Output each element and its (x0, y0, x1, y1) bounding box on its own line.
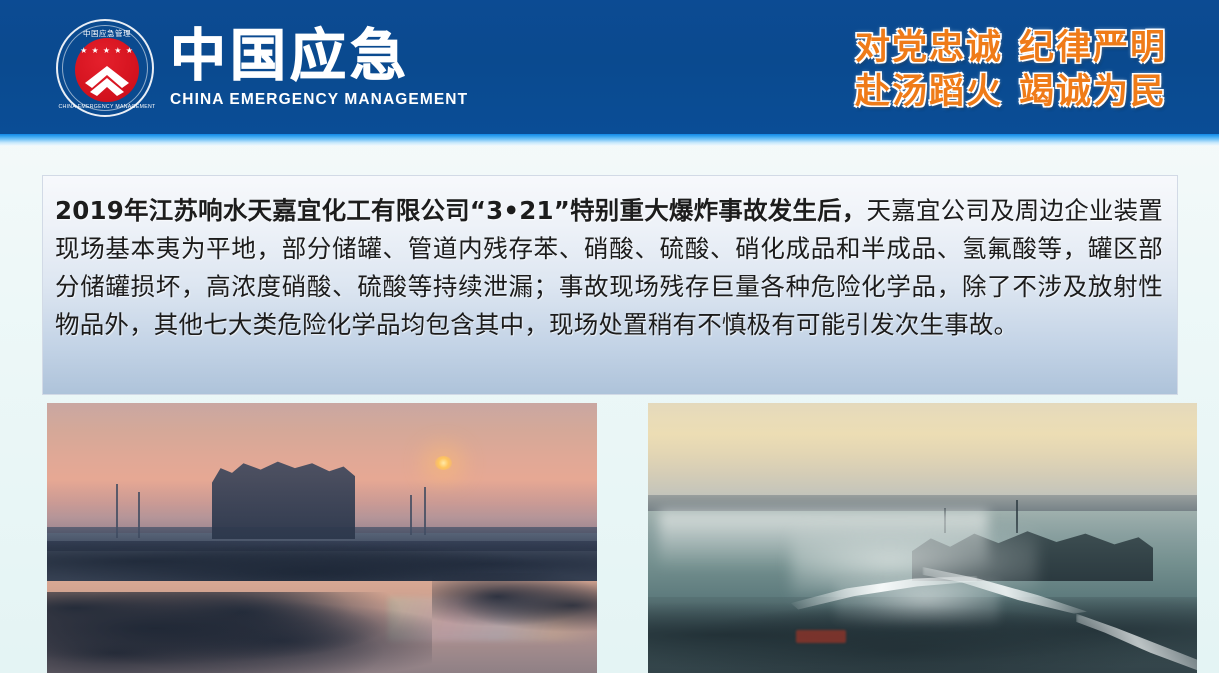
slogan-line-1-part-b: 纪律严明 (1019, 28, 1167, 68)
debris-field-lower (47, 592, 432, 673)
wordmark-english: CHINA EMERGENCY MANAGEMENT (170, 91, 468, 109)
slogan-line-2-part-a: 赴汤蹈火 (855, 72, 1003, 112)
emblem-red-disc: ★ ★ ★ ★ ★ (75, 38, 139, 102)
sun-disc (435, 456, 452, 470)
body-paragraph-lead: 2019年江苏响水天嘉宜化工有限公司“3•21”特别重大爆炸事故发生后， (55, 196, 867, 225)
photo-firefighting-water-jets (648, 403, 1197, 673)
body-paragraph: 2019年江苏响水天嘉宜化工有限公司“3•21”特别重大爆炸事故发生后，天嘉宜公… (55, 192, 1163, 344)
wordmark-chinese: 中国应急 (170, 27, 468, 87)
slogan-line-1: 对党忠诚纪律严明 (855, 26, 1167, 70)
brand-wordmark: 中国应急 CHINA EMERGENCY MANAGEMENT (170, 27, 468, 109)
header-accent-underline (0, 134, 1219, 146)
debris-patch-right (432, 573, 597, 632)
slide-root: 中国应急管理 ★ ★ ★ ★ ★ CHINA EMERGENCY MANAGEM… (0, 0, 1219, 673)
photo-right-canvas (648, 403, 1197, 673)
emblem-stars: ★ ★ ★ ★ ★ (75, 47, 139, 55)
emblem-outer-circle: 中国应急管理 ★ ★ ★ ★ ★ CHINA EMERGENCY MANAGEM… (56, 19, 154, 117)
photo-row (0, 403, 1219, 673)
china-emergency-management-emblem: 中国应急管理 ★ ★ ★ ★ ★ CHINA EMERGENCY MANAGEM… (56, 19, 154, 117)
fire-vehicle (796, 630, 845, 644)
header-slogan: 对党忠诚纪律严明 赴汤蹈火竭诚为民 (855, 26, 1167, 114)
slogan-line-1-part-a: 对党忠诚 (855, 28, 1003, 68)
slogan-line-2-part-b: 竭诚为民 (1019, 72, 1167, 112)
emblem-arch-icon (82, 64, 132, 96)
slogan-line-2: 赴汤蹈火竭诚为民 (855, 70, 1167, 114)
photo-accident-site-sunset (47, 403, 597, 673)
photo-left-canvas (47, 403, 597, 673)
emblem-english-arc-text: CHINA EMERGENCY MANAGEMENT (58, 104, 156, 110)
page-header: 中国应急管理 ★ ★ ★ ★ ★ CHINA EMERGENCY MANAGEM… (0, 0, 1219, 134)
body-text-panel: 2019年江苏响水天嘉宜化工有限公司“3•21”特别重大爆炸事故发生后，天嘉宜公… (42, 175, 1178, 395)
